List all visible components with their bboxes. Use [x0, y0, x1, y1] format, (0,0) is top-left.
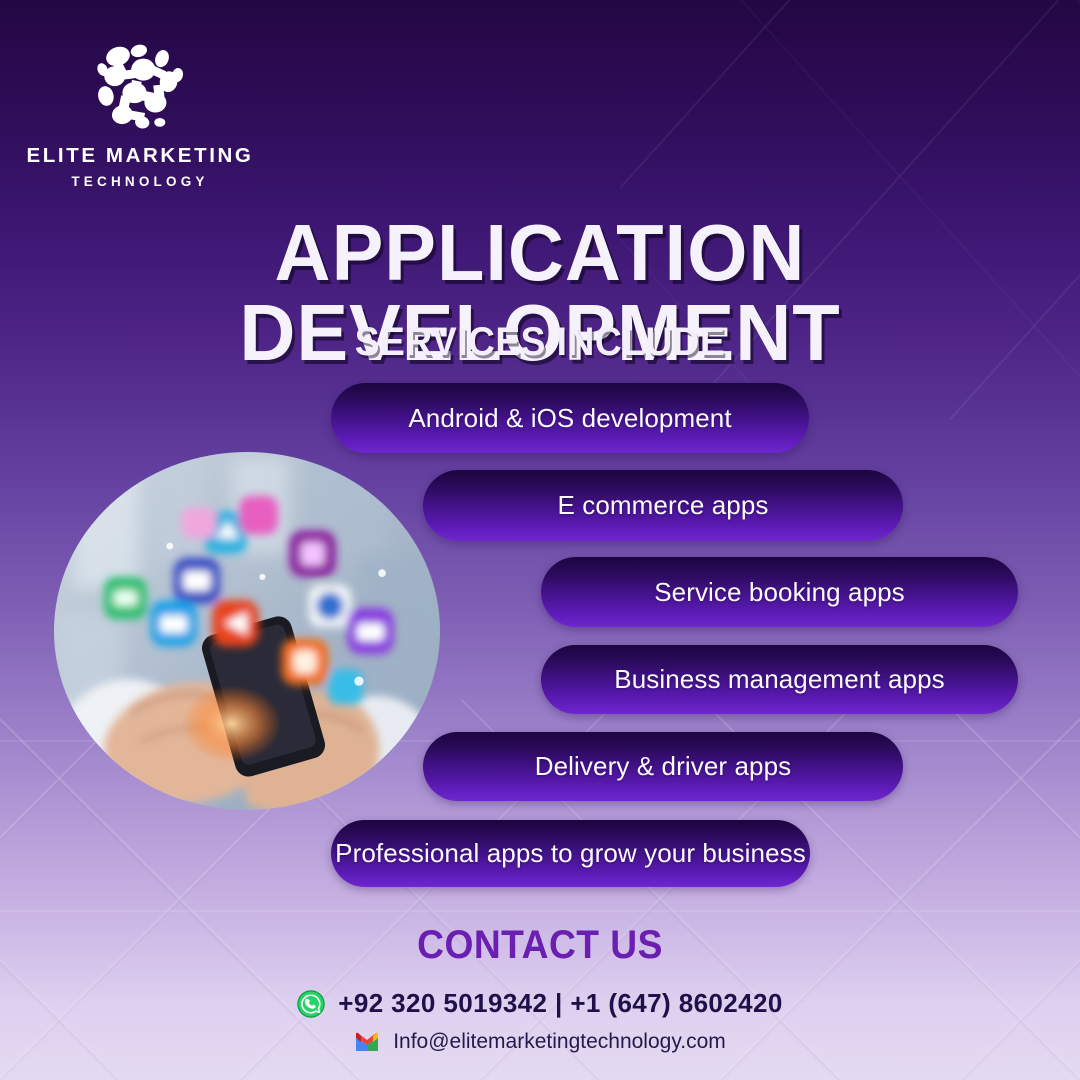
service-pill-2[interactable]: E commerce apps — [423, 470, 903, 541]
whatsapp-icon[interactable] — [297, 990, 325, 1018]
service-pill-6[interactable]: Professional apps to grow your business — [331, 820, 810, 887]
service-pill-4[interactable]: Business management apps — [541, 645, 1018, 714]
brand-name: ELITE MARKETING — [20, 146, 260, 167]
poster-canvas: ELITE MARKETING TECHNOLOGY APPLICATION D… — [0, 0, 1080, 1080]
service-pill-5-label: Delivery & driver apps — [535, 751, 792, 782]
service-pill-3-label: Service booking apps — [654, 577, 905, 608]
molecule-network-icon — [85, 30, 195, 140]
brand-logo: ELITE MARKETING TECHNOLOGY — [20, 30, 260, 188]
contact-phone-text: +92 320 5019342 | +1 (647) 8602420 — [338, 988, 782, 1019]
service-pill-3[interactable]: Service booking apps — [541, 557, 1018, 627]
service-pill-2-label: E commerce apps — [557, 490, 768, 521]
page-subtitle: SERVICES INCLUDE — [38, 322, 1042, 362]
contact-phone-row[interactable]: +92 320 5019342 | +1 (647) 8602420 — [0, 988, 1080, 1019]
service-pill-5[interactable]: Delivery & driver apps — [423, 732, 903, 801]
gmail-icon[interactable] — [354, 1032, 380, 1052]
service-pill-6-label: Professional apps to grow your business — [335, 838, 806, 869]
brand-tagline: TECHNOLOGY — [20, 175, 260, 189]
contact-email-text: Info@elitemarketingtechnology.com — [393, 1030, 726, 1054]
hands-smartphone-app-icons-image — [54, 452, 440, 810]
service-pill-4-label: Business management apps — [614, 664, 945, 695]
service-pill-1-label: Android & iOS development — [408, 403, 731, 434]
contact-email-row[interactable]: Info@elitemarketingtechnology.com — [0, 1030, 1080, 1054]
contact-heading: CONTACT US — [38, 925, 1042, 965]
hero-photo — [54, 452, 440, 810]
service-pill-1[interactable]: Android & iOS development — [331, 383, 809, 453]
